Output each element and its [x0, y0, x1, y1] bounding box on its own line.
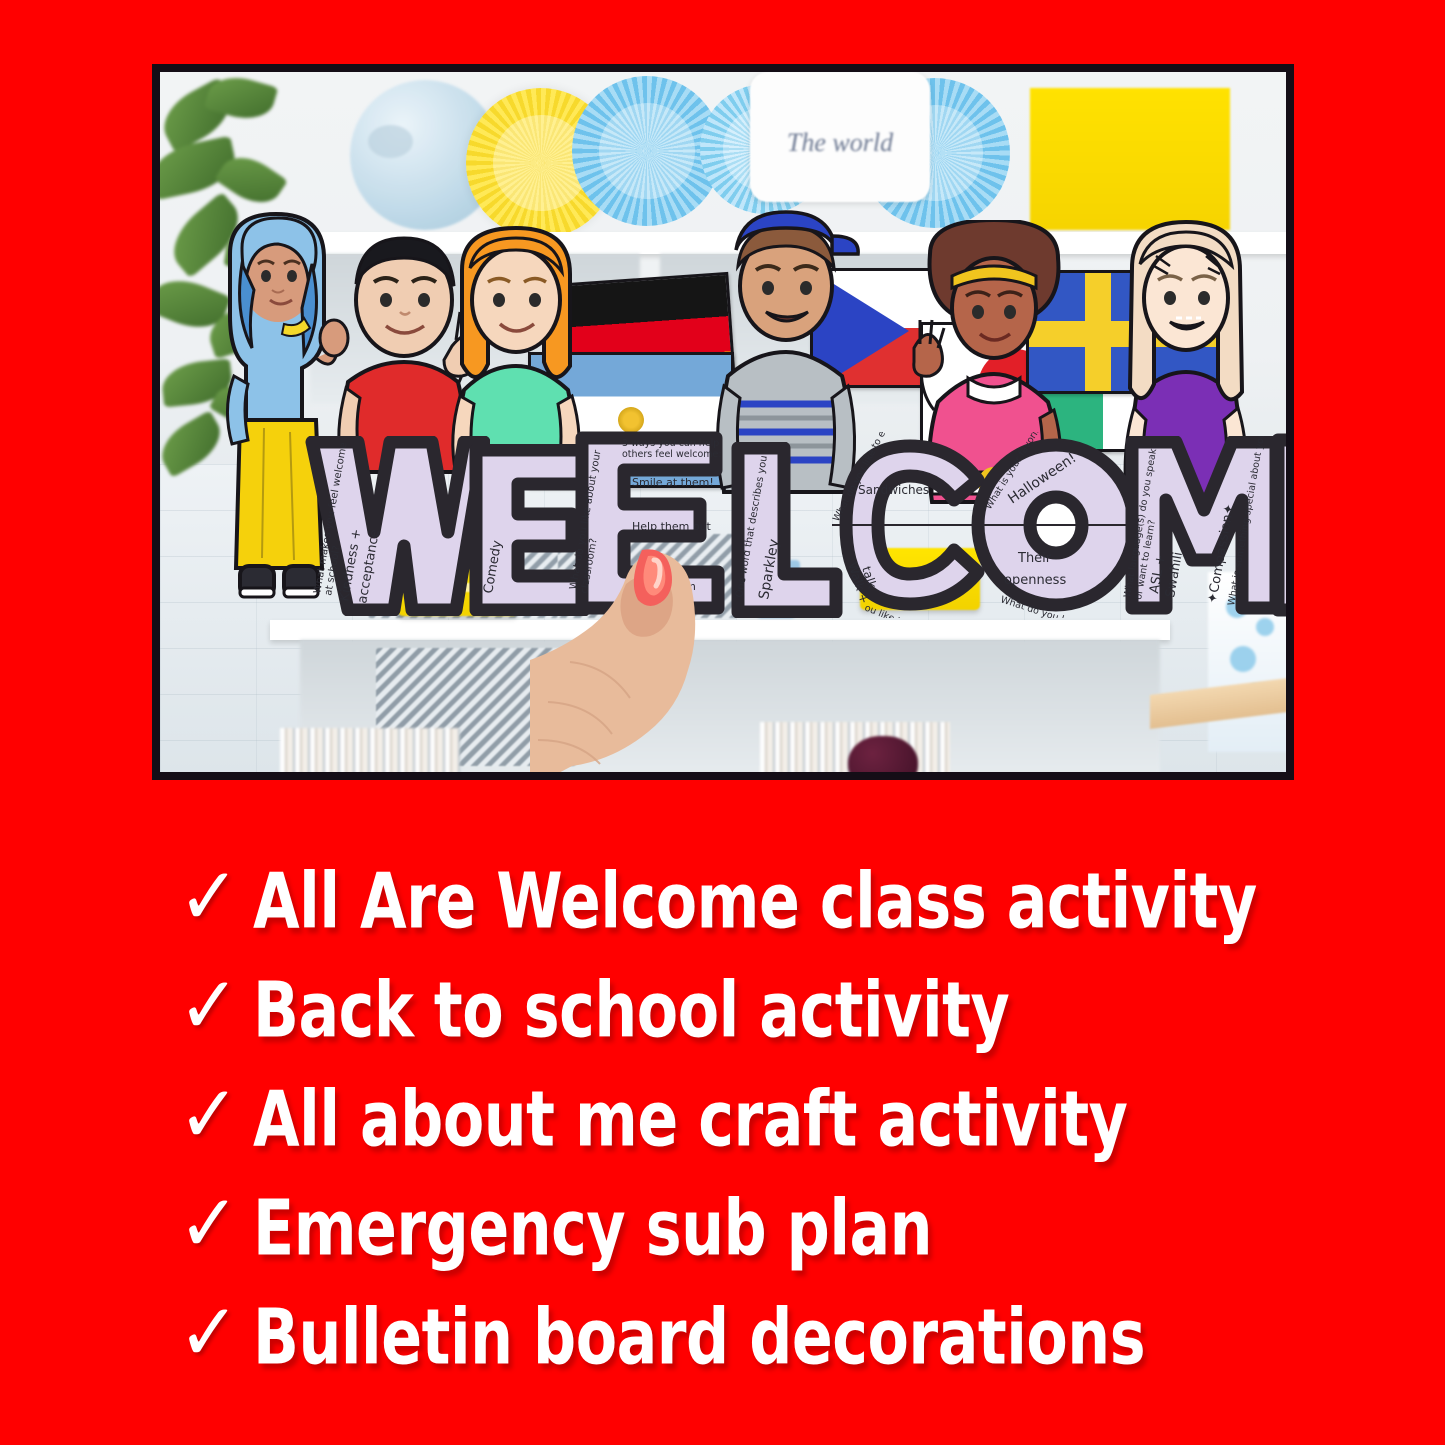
the-world-sign-label: The world [750, 128, 930, 158]
list-item: ✓ All about me craft activity [175, 1064, 1375, 1173]
svg-text:Smile at them!: Smile at them! [632, 476, 714, 489]
check-icon: ✓ [178, 1075, 250, 1155]
check-icon: ✓ [178, 966, 250, 1046]
list-item: ✓ Back to school activity [175, 955, 1375, 1064]
photo-contents: The world [160, 72, 1286, 772]
letter-M: What language(s) do you speak or want to… [1118, 436, 1286, 621]
bullet-label-1: All Are Welcome class activity [253, 862, 1257, 938]
bullet-label-5: Bulletin board decorations [253, 1298, 1145, 1374]
svg-text:Sandwiches: Sandwiches [858, 483, 929, 497]
svg-text:Their: Their [1017, 551, 1052, 566]
welcome-craft-letters: What makes you feel welcome at school? K… [294, 422, 1264, 622]
bullet-label-2: Back to school activity [253, 971, 1009, 1047]
hand-holding-craft [530, 542, 760, 772]
letter-C: What do you like to eat for lunch? Sandw… [812, 432, 992, 623]
list-item: ✓ All Are Welcome class activity [175, 846, 1375, 955]
svg-text:3 ways you can help: 3 ways you can help [622, 438, 719, 449]
svg-text:openness: openness [1004, 573, 1066, 588]
bullet-label-4: Emergency sub plan [253, 1189, 932, 1265]
book-row-1 [280, 728, 460, 772]
check-icon: ✓ [178, 1184, 250, 1264]
svg-text:Help them out: Help them out [632, 520, 712, 533]
yellow-wall-banner [1030, 88, 1230, 230]
check-icon: ✓ [178, 857, 250, 937]
svg-text:others feel welcome:: others feel welcome: [622, 449, 722, 460]
feature-bullet-list: ✓ All Are Welcome class activity ✓ Back … [175, 846, 1375, 1391]
check-icon: ✓ [178, 1293, 250, 1373]
bullet-label-3: All about me craft activity [253, 1080, 1127, 1156]
letter-E2: What makes your classroom a kind place? … [1262, 432, 1286, 623]
list-item: ✓ Bulletin board decorations [175, 1282, 1375, 1391]
list-item: ✓ Emergency sub plan [175, 1173, 1375, 1282]
product-photo: The world [152, 64, 1294, 780]
